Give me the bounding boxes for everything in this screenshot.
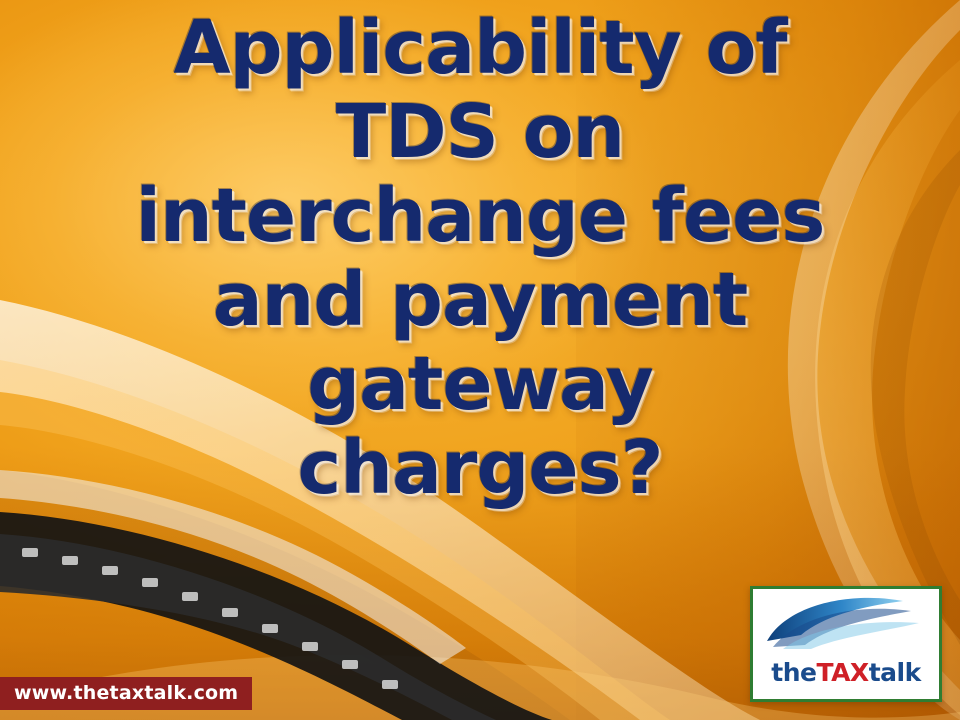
title-line-1: Applicability of	[40, 6, 920, 90]
logo-swoosh-arc-icon	[753, 589, 939, 651]
logo-text-the: the	[771, 658, 816, 687]
poster-title: Applicability of TDS on interchange fees…	[40, 6, 920, 510]
logo-text-tax: TAX	[816, 658, 868, 687]
title-line-2: TDS on	[40, 90, 920, 174]
title-line-5: gateway	[40, 342, 920, 426]
thetaxtalk-logo[interactable]: theTAXtalk	[750, 586, 942, 702]
logo-wordmark: theTAXtalk	[753, 658, 939, 687]
website-url-ribbon[interactable]: www.thetaxtalk.com	[0, 677, 252, 710]
poster-canvas: Applicability of TDS on interchange fees…	[0, 0, 960, 720]
logo-text-talk: talk	[869, 658, 921, 687]
title-line-3: interchange fees	[40, 174, 920, 258]
title-line-6: charges?	[40, 426, 920, 510]
title-line-4: and payment	[40, 258, 920, 342]
